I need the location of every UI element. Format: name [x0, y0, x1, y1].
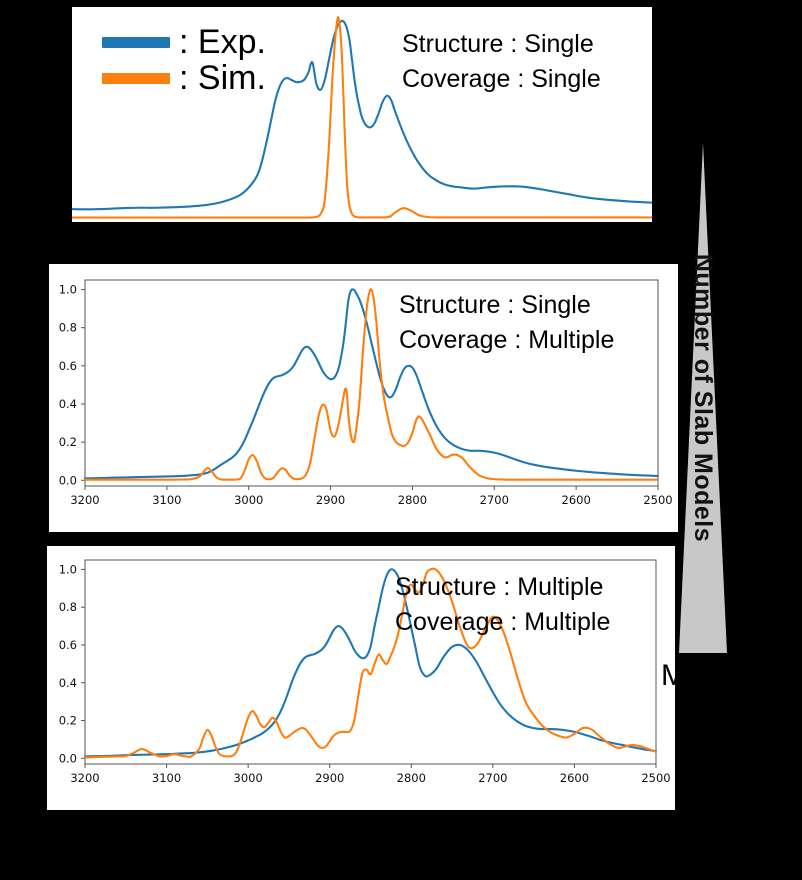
y-tick-label: 0.4: [59, 676, 77, 690]
panel-2-annotation: Structure : Single Coverage : Multiple: [399, 288, 614, 357]
panel-1-annotation: Structure : Single Coverage : Single: [402, 27, 601, 96]
panel-3-structure-label: Structure : Multiple: [395, 570, 610, 605]
y-tick-label: 0.8: [59, 321, 77, 335]
x-tick-label: 3000: [234, 493, 263, 507]
y-tick-label: 1.0: [59, 562, 77, 576]
spectrum-panel-multiple-multiple: 320031003000290028002700260025000.00.20.…: [47, 546, 675, 810]
y-tick-label: 0.6: [59, 359, 77, 373]
legend: : Exp. : Sim.: [102, 24, 266, 96]
panel-1-coverage-label: Coverage : Single: [402, 62, 601, 97]
x-tick-label: 2700: [480, 493, 509, 507]
panel-2-coverage-label: Coverage : Multiple: [399, 323, 614, 358]
x-tick-label: 3100: [152, 771, 181, 785]
panel-1-structure-label: Structure : Single: [402, 27, 601, 62]
panel-3-coverage-label: Coverage : Multiple: [395, 605, 610, 640]
y-tick-label: 1.0: [59, 283, 77, 297]
panel-3-annotation: Structure : Multiple Coverage : Multiple: [395, 570, 610, 639]
legend-swatch-exp-icon: [102, 37, 170, 48]
x-tick-label: 3100: [152, 493, 181, 507]
y-tick-label: 0.6: [59, 638, 77, 652]
spectrum-panel-single-multiple: 320031003000290028002700260025000.00.20.…: [49, 264, 678, 532]
x-tick-label: 2900: [316, 493, 345, 507]
x-tick-label: 2700: [478, 771, 507, 785]
number-of-slab-models-arrow: Number of Slab Models: [670, 143, 736, 653]
y-tick-label: 0.4: [59, 397, 77, 411]
y-tick-label: 0.0: [59, 751, 77, 765]
panel-2-structure-label: Structure : Single: [399, 288, 614, 323]
clipped-annotation-text: Multiple: [661, 659, 675, 693]
x-tick-label: 2500: [641, 771, 670, 785]
x-tick-label: 2600: [560, 771, 589, 785]
x-tick-label: 2800: [397, 771, 426, 785]
spectrum-panel-single-single: : Exp. : Sim. Structure : Single Coverag…: [72, 7, 652, 222]
x-tick-label: 2800: [398, 493, 427, 507]
legend-row-sim: : Sim.: [102, 60, 266, 96]
x-tick-label: 2900: [315, 771, 344, 785]
legend-swatch-sim-icon: [102, 73, 170, 84]
y-tick-label: 0.2: [59, 435, 77, 449]
y-tick-label: 0.2: [59, 714, 77, 728]
legend-label-exp: : Exp.: [179, 25, 266, 59]
x-tick-label: 3200: [70, 493, 99, 507]
x-tick-label: 2600: [562, 493, 591, 507]
y-tick-label: 0.8: [59, 600, 77, 614]
x-tick-label: 2500: [643, 493, 672, 507]
x-tick-label: 3000: [234, 771, 263, 785]
y-tick-label: 0.0: [59, 473, 77, 487]
arrow-label: Number of Slab Models: [670, 143, 736, 653]
x-tick-label: 3200: [70, 771, 99, 785]
legend-row-exp: : Exp.: [102, 24, 266, 60]
legend-label-sim: : Sim.: [179, 61, 266, 95]
